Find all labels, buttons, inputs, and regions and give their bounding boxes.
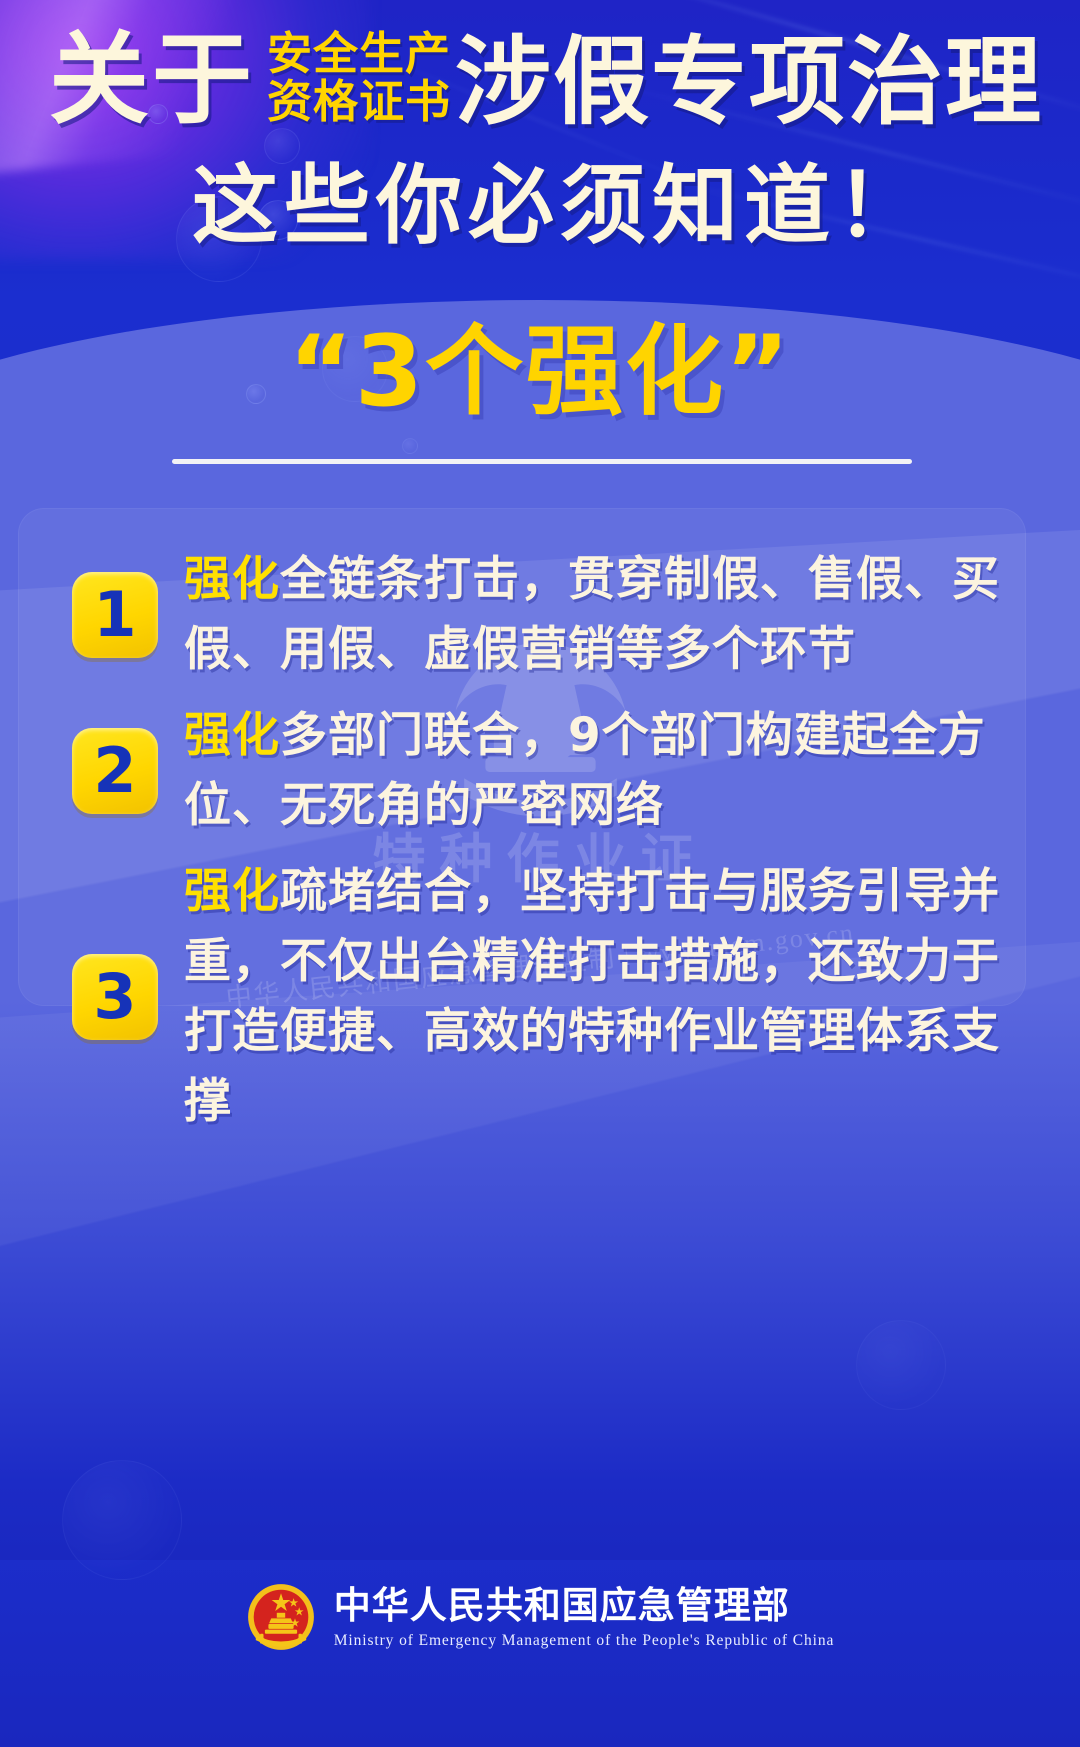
measures-list: 1 强化全链条打击，贯穿制假、售假、买假、用假、虚假营销等多个环节 2 强化多部… [0,545,1080,1153]
section-divider [172,459,912,464]
list-item-number-badge: 1 [72,572,158,658]
headline-subtitle: 这些你必须知道！ [0,158,1080,254]
headline-stacked-line1: 安全生产 [267,30,451,78]
poster-root: 特种作业证 中华人民共和国应急管理部监制 | www.mem.gov.cn 关于… [0,0,1080,1747]
section-title: “3个强化” [0,318,1080,426]
list-item: 1 强化全链条打击，贯穿制假、售假、买假、用假、虚假营销等多个环节 [0,545,1080,685]
headline-stacked-block: 安全生产 资格证书 [267,30,451,126]
footer: 中华人民共和国应急管理部 Ministry of Emergency Manag… [0,1582,1080,1652]
headline-row: 关于 安全生产 资格证书 涉假专项治理 [0,18,1080,134]
list-item: 3 强化疏堵结合，坚持打击与服务引导并重，不仅出台精准打击措施，还致力于打造便捷… [0,857,1080,1137]
list-item-highlight: 强化 [184,552,280,607]
list-item-number-badge: 3 [72,954,158,1040]
list-item-text: 强化疏堵结合，坚持打击与服务引导并重，不仅出台精准打击措施，还致力于打造便捷、高… [184,857,1036,1137]
footer-texts: 中华人民共和国应急管理部 Ministry of Emergency Manag… [334,1585,835,1650]
list-item-body: 全链条打击，贯穿制假、售假、买假、用假、虚假营销等多个环节 [184,552,1000,677]
list-item-text: 强化全链条打击，贯穿制假、售假、买假、用假、虚假营销等多个环节 [184,545,1036,685]
list-item-body: 多部门联合，9个部门构建起全方位、无死角的严密网络 [184,708,986,833]
headline-main: 涉假专项治理 [455,30,1043,134]
footer-org-name-en: Ministry of Emergency Management of the … [334,1632,835,1650]
national-emblem-icon [246,1582,316,1652]
footer-org-name-cn: 中华人民共和国应急管理部 [334,1585,835,1627]
bubble-decoration [62,1460,182,1580]
list-item-number-badge: 2 [72,728,158,814]
bubble-decoration [856,1320,946,1410]
bubble-decoration [402,438,418,454]
list-item-body: 疏堵结合，坚持打击与服务引导并重，不仅出台精准打击措施，还致力于打造便捷、高效的… [184,864,1000,1129]
headline-stacked-line2: 资格证书 [267,78,451,126]
list-item-highlight: 强化 [184,708,280,763]
list-item-text: 强化多部门联合，9个部门构建起全方位、无死角的严密网络 [184,701,1036,841]
list-item: 2 强化多部门联合，9个部门构建起全方位、无死角的严密网络 [0,701,1080,841]
list-item-highlight: 强化 [184,864,280,919]
headline-prefix: 关于 [49,28,255,132]
